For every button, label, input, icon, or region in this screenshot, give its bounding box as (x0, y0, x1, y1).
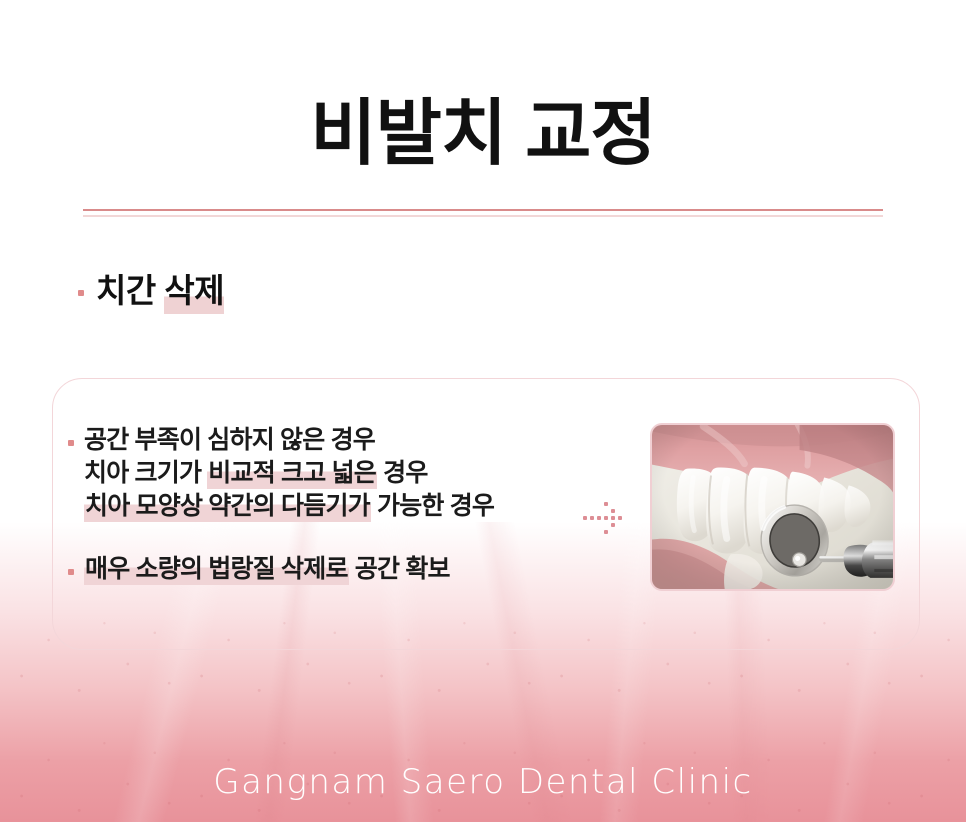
list-item: 매우 소량의 법랑질 삭제로 공간 확보 (68, 553, 608, 586)
text-line: 공간 부족이 심하지 않은 경우 (84, 424, 494, 457)
procedure-image (650, 423, 895, 591)
line-highlight: 비교적 크고 넓은 (207, 459, 377, 489)
line-post: 공간 확보 (349, 555, 450, 583)
bullet-square-icon (78, 290, 84, 296)
ipr-illustration (652, 425, 893, 589)
divider-line-secondary (83, 215, 883, 217)
text-line: 치아 크기가 비교적 크고 넓은 경우 (84, 457, 494, 490)
line-highlight: 매우 소량의 법랑질 삭제로 (84, 555, 349, 585)
slide-canvas: 비발치 교정 치간 삭제 공간 부족이 심하지 않은 경우 치아 크기가 비교적… (0, 0, 966, 822)
list-item-text: 공간 부족이 심하지 않은 경우 치아 크기가 비교적 크고 넓은 경우 치아 … (84, 424, 494, 523)
line-pre: 공간 부족이 심하지 않은 경우 (84, 426, 375, 454)
subtitle-text: 치간 삭제 (96, 270, 224, 311)
subtitle-highlight: 삭제 (164, 272, 224, 314)
subtitle-plain: 치간 (96, 272, 164, 309)
text-line: 치아 모양상 약간의 다듬기가 가능한 경우 (84, 490, 494, 523)
title-divider (83, 209, 883, 217)
line-highlight: 치아 모양상 약간의 다듬기가 (84, 492, 371, 522)
divider-line-primary (83, 209, 883, 211)
line-pre: 치아 크기가 (84, 459, 207, 487)
text-line: 매우 소량의 법랑질 삭제로 공간 확보 (84, 553, 450, 586)
dotted-arrow-right-icon (583, 500, 625, 536)
bullet-list: 공간 부족이 심하지 않은 경우 치아 크기가 비교적 크고 넓은 경우 치아 … (68, 424, 608, 586)
line-post: 가능한 경우 (371, 492, 494, 520)
bullet-square-icon (68, 440, 74, 446)
section-subtitle: 치간 삭제 (78, 270, 224, 311)
list-item-text: 매우 소량의 법랑질 삭제로 공간 확보 (84, 553, 450, 586)
clinic-footer: Gangnam Saero Dental Clinic (0, 762, 966, 802)
line-post: 경우 (377, 459, 428, 487)
list-item: 공간 부족이 심하지 않은 경우 치아 크기가 비교적 크고 넓은 경우 치아 … (68, 424, 608, 523)
bullet-square-icon (68, 569, 74, 575)
page-title: 비발치 교정 (0, 98, 966, 170)
